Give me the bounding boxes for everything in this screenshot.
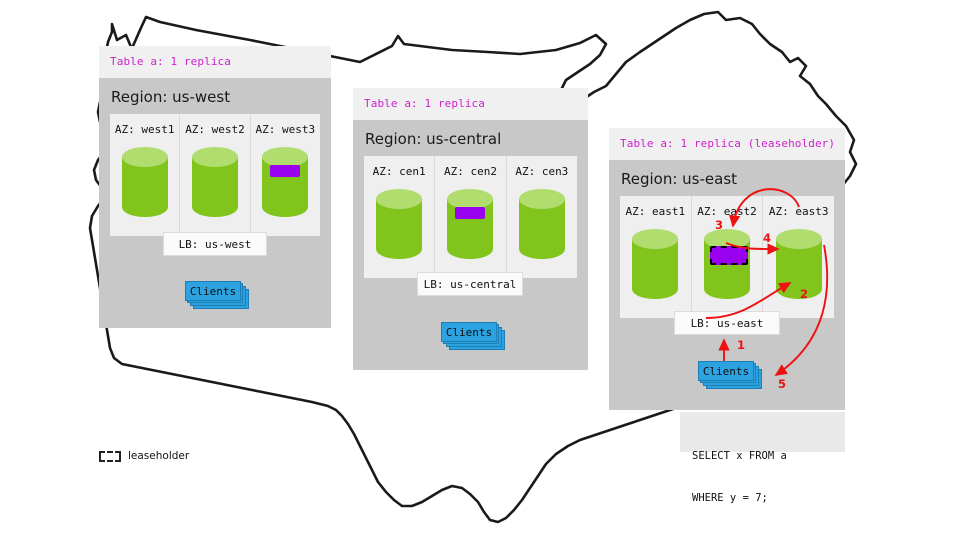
- flow-arrow-5: [776, 245, 827, 375]
- flow-step-label-4: 4: [763, 231, 771, 245]
- flow-step-label-3: 3: [715, 218, 723, 232]
- legend: leaseholder: [99, 450, 189, 462]
- flow-step-label-1: 1: [737, 338, 745, 352]
- legend-label: leaseholder: [128, 450, 189, 462]
- flow-step-label-2: 2: [800, 287, 808, 301]
- flow-step-label-5: 5: [778, 377, 786, 391]
- flow-arrow-3: [733, 189, 799, 226]
- leaseholder-swatch-icon: [99, 451, 121, 462]
- flow-arrow-2: [706, 283, 790, 318]
